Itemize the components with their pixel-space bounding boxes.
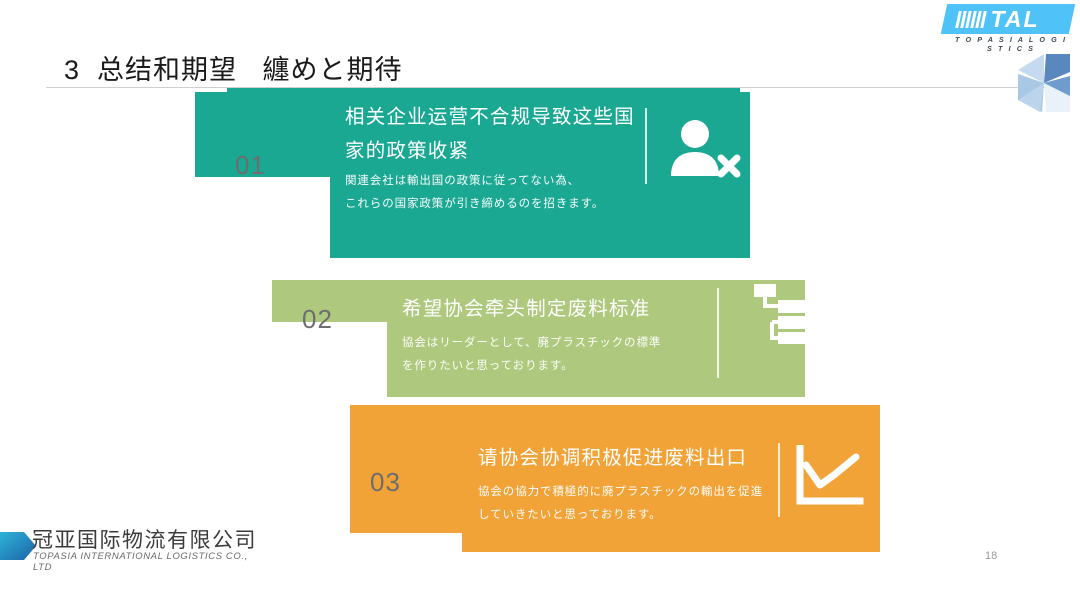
card-01-subtext: 関連会社は輸出国の政策に従ってない為、 これらの国家政策が引き締めるのを招きます…: [345, 170, 705, 216]
hexagon-icon: [0, 529, 36, 563]
content-card-02[interactable]: 02 希望协会牵头制定废料标准 協会はリーダーとして、廃プラスチックの標準 を作…: [272, 280, 805, 397]
tal-stripes-icon: [957, 11, 985, 28]
tal-logo-text: TAL: [991, 6, 1040, 33]
tal-logo-tagline: T O P A S I A L O G I S T I C S: [950, 35, 1072, 53]
tal-logo-content: TAL: [944, 4, 1072, 34]
page-title: 3 总结和期望 纏めと期待: [64, 48, 403, 87]
footer-company-cn: 冠亚国际物流有限公司: [32, 524, 257, 554]
org-chart-icon: [734, 282, 808, 349]
card-01-number: 01: [235, 150, 266, 181]
person-x-icon: [667, 114, 743, 191]
slide-canvas: 3 总结和期望 纏めと期待 TAL T O P A S I A L O G I …: [0, 0, 1080, 606]
tal-logo: TAL T O P A S I A L O G I S T I C S: [944, 4, 1072, 46]
card-02-subtext: 協会はリーダーとして、廃プラスチックの標準 を作りたいと思っております。: [402, 332, 762, 378]
pinwheel-decoration-icon: [1016, 52, 1072, 114]
card-02-heading: 希望协会牵头制定废料标准: [402, 292, 732, 326]
content-card-03[interactable]: 03 请协会协调积极促进废料出口 協会の協力で積極的に廃プラスチックの輸出を促進…: [350, 405, 880, 552]
card-03-heading: 请协会协调积极促进废料出口: [478, 441, 808, 475]
card-02-divider: [717, 288, 719, 378]
footer-company-en: TOPASIA INTERNATIONAL LOGISTICS CO., LTD: [33, 551, 260, 573]
card-02-number: 02: [302, 304, 333, 335]
card-03-divider: [778, 443, 780, 517]
footer-company-logo: 冠亚国际物流有限公司 TOPASIA INTERNATIONAL LOGISTI…: [0, 524, 260, 570]
card-01-heading: 相关企业运营不合规导致这些国 家的政策收紧: [345, 100, 675, 168]
card-01-divider: [645, 108, 647, 184]
line-chart-icon: [794, 445, 866, 516]
page-number: 18: [985, 550, 997, 562]
content-card-01[interactable]: 01 相关企业运营不合规导致这些国 家的政策收紧 関連会社は輸出国の政策に従って…: [195, 92, 750, 258]
card-03-number: 03: [370, 467, 401, 498]
